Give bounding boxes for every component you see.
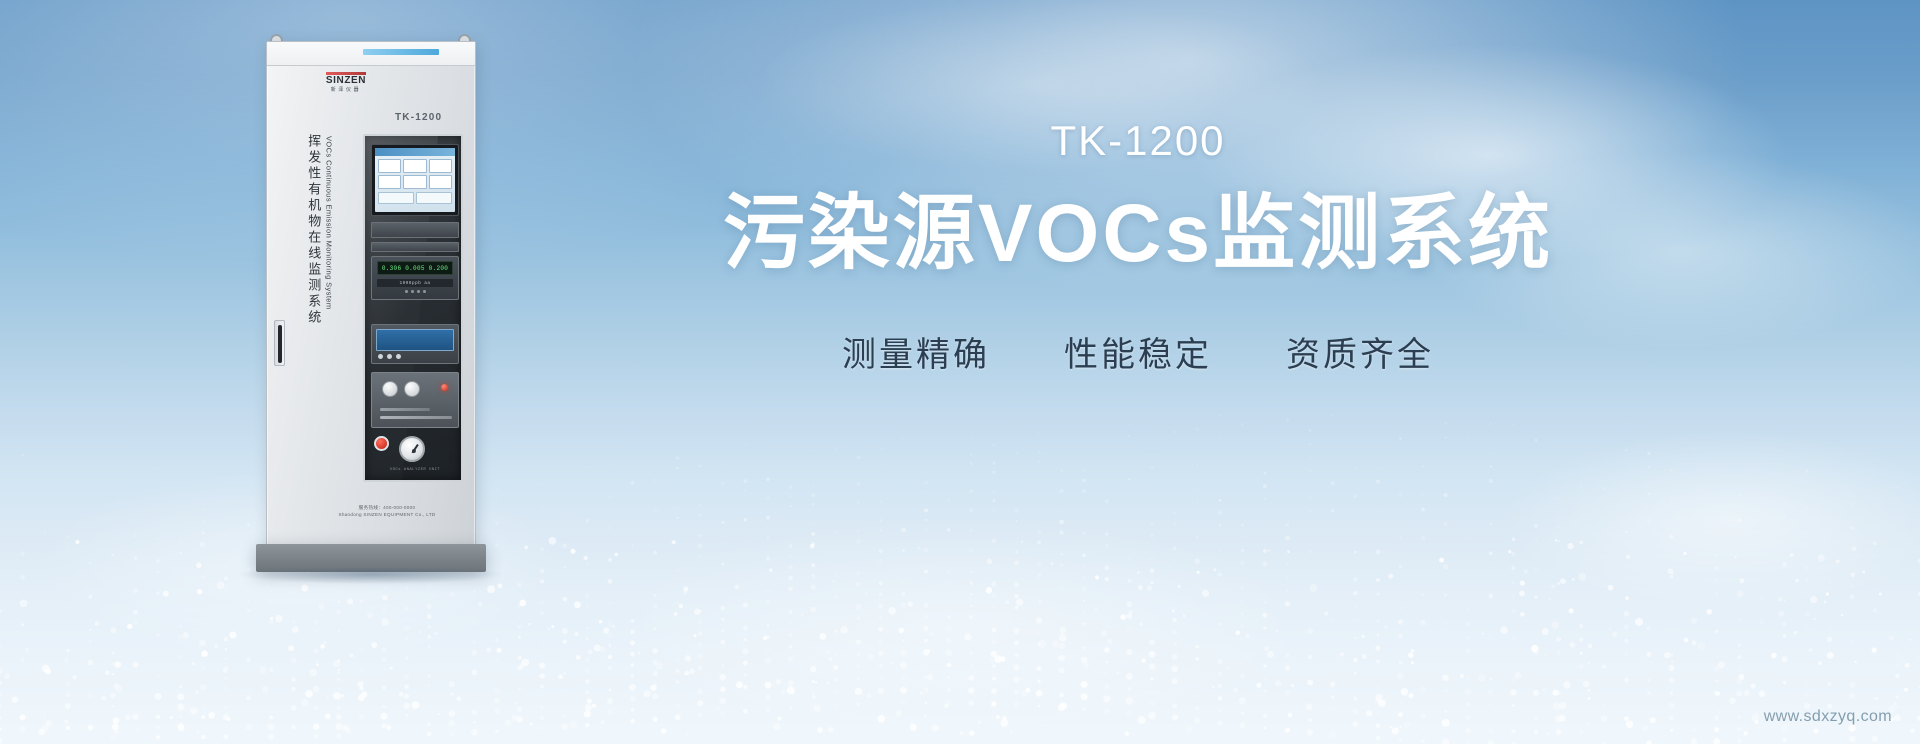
module-knobs: [376, 354, 454, 359]
emergency-stop-button[interactable]: [374, 436, 389, 451]
gas-tube: [380, 416, 452, 419]
flow-dial-icon: [382, 381, 398, 397]
rack-module: [371, 222, 459, 238]
valve-flow-panel: [371, 372, 459, 428]
brand-chinese-name: 新泽仪器: [313, 88, 379, 93]
product-model: TK-1200: [548, 120, 1728, 162]
cabinet-body: SINZEN 新泽仪器 TK-1200 挥发性有机物在线监测系统 VOCs Co…: [266, 41, 476, 546]
chromatograph-module: [371, 324, 459, 364]
feature-tag: 测量精确: [842, 327, 990, 376]
feature-tag-list: 测量精确 性能稳定 资质齐全: [548, 327, 1728, 376]
rack-module: [371, 242, 459, 252]
readout-lcd-sub: 1996ppb aa: [377, 279, 453, 287]
site-watermark: www.sdxzyq.com: [1764, 708, 1892, 726]
indicator-lamps: [377, 290, 453, 293]
analyzer-cabinet: SINZEN 新泽仪器 TK-1200 挥发性有机物在线监测系统 VOCs Co…: [246, 20, 496, 576]
readout-lcd-values: 0.306 0.005 0.200: [377, 261, 453, 275]
cloud-bloom: [1500, 430, 1920, 610]
instrument-window: 0.306 0.005 0.200 1996ppb aa: [363, 134, 463, 482]
gas-tube: [380, 408, 430, 411]
cloud-bloom: [620, 520, 1300, 730]
feature-tag: 性能稳定: [1064, 327, 1212, 376]
banner-copy: TK-1200 污染源VOCs监测系统 测量精确 性能稳定 资质齐全: [548, 120, 1728, 376]
cabinet-shadow: [240, 568, 502, 584]
pressure-gauge-icon: [399, 436, 425, 462]
service-hotline: 服务热线：400-000-0000: [327, 505, 447, 512]
brand-logo: SINZEN 新泽仪器: [313, 72, 379, 93]
brand-accent-decal: [363, 49, 439, 55]
vertical-label-strip: 挥发性有机物在线监测系统 VOCs Continuous Emission Mo…: [305, 134, 357, 434]
flow-dial-icon: [404, 381, 420, 397]
manufacturer-name: Shandong SINZEN EQUIPMENT Co., LTD: [327, 512, 447, 519]
hmi-touchscreen: [371, 144, 459, 216]
status-led-icon: [441, 384, 448, 391]
product-banner: SINZEN 新泽仪器 TK-1200 挥发性有机物在线监测系统 VOCs Co…: [0, 0, 1920, 744]
brand-wordmark: SINZEN: [313, 76, 379, 86]
cabinet-model-plate: TK-1200: [395, 112, 442, 123]
service-sticker: 服务热线：400-000-0000 Shandong SINZEN EQUIPM…: [327, 505, 447, 519]
vertical-label-english: VOCs Continuous Emission Monitoring Syst…: [324, 136, 333, 366]
module-display: [376, 329, 454, 351]
vertical-label-chinese: 挥发性有机物在线监测系统: [305, 134, 321, 434]
door-handle: [274, 320, 285, 366]
page-title: 污染源VOCs监测系统: [548, 190, 1728, 279]
feature-tag: 资质齐全: [1286, 327, 1434, 376]
hmi-titlebar: [375, 148, 455, 156]
window-label: VOCs ANALYZER UNIT: [373, 468, 457, 474]
digital-readout-module: 0.306 0.005 0.200 1996ppb aa: [371, 256, 459, 300]
